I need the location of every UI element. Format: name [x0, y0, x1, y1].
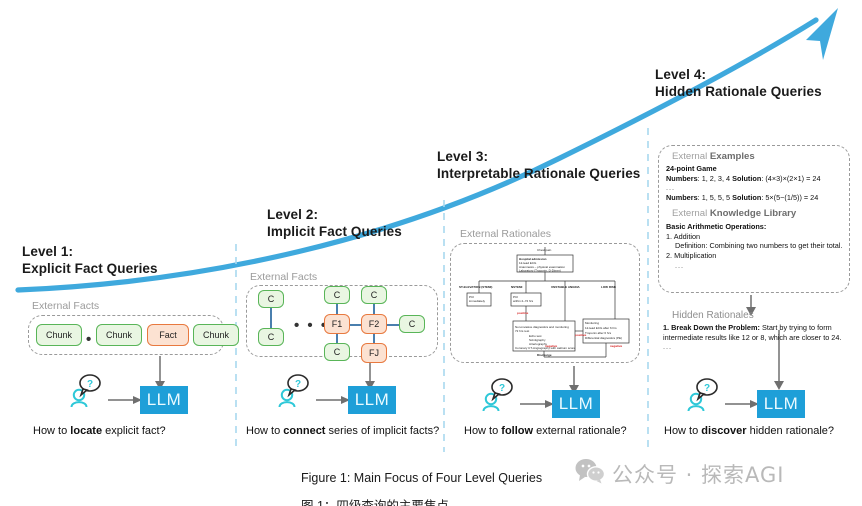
level-2-title-line1: Level 2: [267, 206, 402, 223]
level-4-knowledge-panel: External Examples 24-point Game Numbers:… [658, 145, 850, 293]
hidden-rationales-content: 1. Break Down the Problem: Start by tryi… [663, 323, 845, 352]
hidden-rationale-item: 1. Break Down the Problem: Start by tryi… [663, 323, 845, 342]
example-row: Numbers: 1, 2, 3, 4 Solution: (4×3)×(2×1… [666, 174, 843, 184]
hidden-rationales-label: Hidden Rationales [672, 310, 754, 321]
level-2-question: How to connect series of implicit facts? [246, 425, 439, 437]
svg-text:Monitoring: Monitoring [585, 321, 599, 325]
level-4-question: How to discover hidden rationale? [664, 425, 834, 437]
level-3-question: How to follow external rationale? [464, 425, 627, 437]
svg-text:?: ? [295, 379, 301, 390]
level-4-title-line1: Level 4: [655, 66, 822, 83]
watermark-text: 公众号 · 探索AGI [612, 459, 785, 489]
ops-item: ... [675, 261, 843, 271]
level-1-section-label: External Facts [32, 300, 99, 312]
q2-prefix: How to [246, 425, 283, 437]
q4-bold: discover [701, 425, 746, 437]
svg-text:within 2–72 hrs: within 2–72 hrs [513, 299, 534, 303]
level-3-section-label: External Rationales [460, 228, 551, 240]
growth-curve-arrowhead [806, 8, 838, 60]
llm-box: LLM [552, 390, 600, 418]
q2-suffix: series of implicit facts? [325, 425, 439, 437]
wechat-watermark: 公众号 · 探索AGI [575, 458, 785, 489]
knowledge-library-header-plain: External [672, 208, 710, 219]
level-2-section-label: External Facts [250, 271, 317, 283]
example-row-ellipsis: ... [666, 183, 843, 193]
graph-node-fact: F1 [324, 314, 350, 334]
external-examples-header-plain: External [672, 151, 710, 162]
svg-text:Differential diagnostics (PE): Differential diagnostics (PE) [585, 336, 622, 340]
fact-pill: Fact [147, 324, 189, 346]
user-query-icon: ? [685, 378, 727, 417]
graph-node: C [258, 290, 284, 308]
game-title: 24-point Game [666, 164, 843, 174]
svg-text:NSTEMI: NSTEMI [511, 285, 523, 289]
ops-item: Definition: Combining two numbers to get… [675, 241, 843, 251]
q1-bold: locate [70, 425, 102, 437]
svg-text:Laboratory (Troponin, D-Dimer): Laboratory (Troponin, D-Dimer) [519, 269, 561, 273]
svg-text:immediately: immediately [469, 299, 486, 303]
graph-node-fact: FJ [361, 343, 387, 363]
level-4-title-line2: Hidden Rationale Queries [655, 83, 822, 100]
example-row-b2: Solution [732, 193, 761, 202]
example-row-b2: Solution [732, 174, 761, 183]
example-row-b1: Numbers [666, 174, 698, 183]
level-1-title: Level 1: Explicit Fact Queries [22, 243, 158, 278]
external-examples-header: External Examples [672, 151, 843, 162]
q3-suffix: external rationale? [533, 425, 627, 437]
clinical-flowchart-thumbnail: Chest pain Hospital admission 12-lead EC… [455, 243, 635, 361]
q2-bold: connect [283, 425, 325, 437]
level-3-title-line2: Interpretable Rationale Queries [437, 165, 640, 182]
chunk-pill: Chunk [36, 324, 82, 346]
q4-prefix: How to [664, 425, 701, 437]
wechat-icon [575, 458, 605, 489]
svg-text:Discharge: Discharge [537, 353, 552, 357]
svg-text:?: ? [499, 383, 505, 394]
knowledge-library-header-bold: Knowledge Library [710, 208, 796, 219]
graph-node: C [324, 343, 350, 361]
llm-box: LLM [348, 386, 396, 414]
example-row: Numbers: 1, 5, 5, 5 Solution: 5×(5−(1/5)… [666, 193, 843, 203]
example-row-t2: : (4×3)×(2×1) = 24 [761, 174, 820, 183]
chunk-pill: Chunk [96, 324, 142, 346]
graph-node: C [258, 328, 284, 346]
q3-prefix: How to [464, 425, 501, 437]
level-3-title-line1: Level 3: [437, 148, 640, 165]
q1-prefix: How to [33, 425, 70, 437]
ops-title: Basic Arithmetic Operations: [666, 222, 843, 232]
level-4-title: Level 4: Hidden Rationale Queries [655, 66, 822, 101]
arrow-l4-head [774, 381, 784, 390]
knowledge-library-header: External Knowledge Library [672, 208, 843, 219]
level-1-title-line2: Explicit Fact Queries [22, 260, 158, 277]
ops-item: 2. Multiplication [666, 251, 843, 261]
level-1-question: How to locate explicit fact? [33, 425, 166, 437]
q3-bold: follow [501, 425, 533, 437]
svg-text:72 hrs rest: 72 hrs rest [515, 329, 529, 333]
chunk-pill: Chunk [193, 324, 239, 346]
level-3-title: Level 3: Interpretable Rationale Queries [437, 148, 640, 183]
svg-text:UNSTABLE ANGINA: UNSTABLE ANGINA [551, 285, 580, 289]
hidden-rationale-ellipsis: ... [663, 342, 845, 352]
example-row-b1: Numbers [666, 193, 698, 202]
figure-canvas: Level 1: Explicit Fact Queries Level 2: … [0, 0, 862, 506]
figure-caption-cn: 图 1：四级查询的主要焦点 [301, 495, 449, 506]
svg-text:positive: positive [575, 333, 587, 337]
figure-caption: Figure 1: Main Focus of Four Level Queri… [301, 471, 542, 485]
graph-node-fact: F2 [361, 314, 387, 334]
svg-text:?: ? [87, 379, 93, 390]
user-query-icon: ? [480, 378, 522, 417]
hidden-rationale-item-bold: 1. Break Down the Problem: [663, 323, 760, 332]
ops-item: 1. Addition [666, 232, 843, 242]
level-2-title-line2: Implicit Fact Queries [267, 223, 402, 240]
external-examples-header-bold: Examples [710, 151, 755, 162]
svg-text:LOW RISK: LOW RISK [601, 285, 617, 289]
example-row-t1: : 1, 2, 3, 4 [698, 174, 732, 183]
svg-text:ST-ELEVATION (STEMI): ST-ELEVATION (STEMI) [459, 285, 492, 289]
example-row-t1: : 1, 5, 5, 5 [698, 193, 732, 202]
graph-node: C [361, 286, 387, 304]
svg-text:?: ? [704, 383, 710, 394]
llm-box: LLM [757, 390, 805, 418]
graph-node: C [324, 286, 350, 304]
level-2-title: Level 2: Implicit Fact Queries [267, 206, 402, 241]
svg-text:Chest pain: Chest pain [537, 248, 552, 252]
graph-ellipsis: • • • [294, 318, 328, 333]
svg-text:negative: negative [610, 344, 623, 348]
user-query-icon: ? [68, 374, 110, 413]
svg-text:Troponin after 6 hrs: Troponin after 6 hrs [585, 331, 612, 335]
q1-suffix: explicit fact? [102, 425, 166, 437]
llm-box: LLM [140, 386, 188, 414]
level-1-title-line1: Level 1: [22, 243, 158, 260]
graph-node: C [399, 315, 425, 333]
example-row-t2: : 5×(5−(1/5)) = 24 [761, 193, 818, 202]
svg-text:positive: positive [517, 311, 529, 315]
q4-suffix: hidden rationale? [747, 425, 834, 437]
svg-text:12-lead ECG after 6 hrs: 12-lead ECG after 6 hrs [585, 326, 617, 330]
user-query-icon: ? [276, 374, 318, 413]
svg-text:negative: negative [545, 344, 558, 348]
